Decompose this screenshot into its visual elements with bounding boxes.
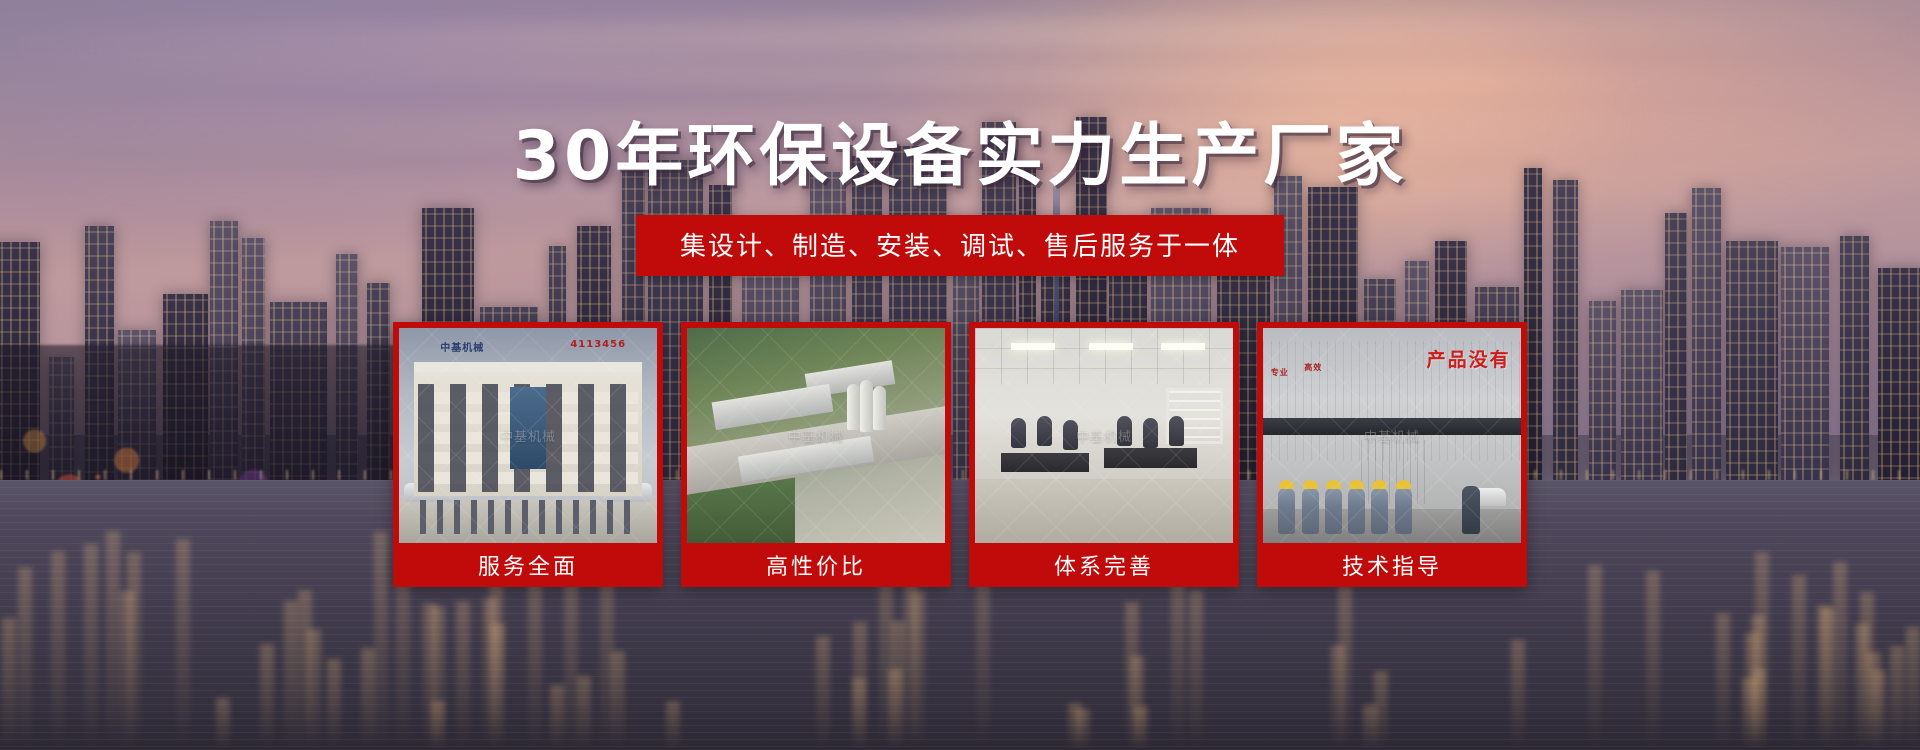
hard-hat-worker bbox=[1371, 488, 1388, 534]
office-worker bbox=[1169, 416, 1184, 446]
card-thumbnail: 中基机械 bbox=[687, 328, 945, 543]
office-desk bbox=[1001, 453, 1089, 472]
office-desk bbox=[1104, 448, 1197, 467]
office-worker bbox=[1143, 418, 1158, 448]
building-facade bbox=[414, 362, 641, 495]
banner-content: 30年环保设备实力生产厂家 集设计、制造、安装、调试、售后服务于一体 中基机械 … bbox=[0, 0, 1920, 750]
feature-card[interactable]: 中基机械 4113456 中基机械 服务全面 bbox=[393, 322, 663, 587]
hero-banner: 30年环保设备实力生产厂家 集设计、制造、安装、调试、售后服务于一体 中基机械 … bbox=[0, 0, 1920, 750]
building-phone-text: 4113456 bbox=[570, 339, 626, 350]
hard-hat-worker bbox=[1278, 488, 1295, 534]
card-caption: 体系完善 bbox=[975, 543, 1233, 587]
card-caption: 技术指导 bbox=[1263, 543, 1521, 587]
hard-hat-worker bbox=[1325, 488, 1342, 534]
factory-slogan: 高效 bbox=[1304, 362, 1322, 373]
feature-card[interactable]: 产品没有 专业 高效 中基机械 bbox=[1257, 322, 1527, 587]
office-floor bbox=[975, 479, 1233, 544]
building-atrium bbox=[510, 387, 546, 468]
storage-silo bbox=[847, 384, 860, 430]
subtitle-badge: 集设计、制造、安装、调试、售后服务于一体 bbox=[636, 215, 1284, 276]
hard-hat-worker bbox=[1395, 488, 1412, 534]
office-worker bbox=[1037, 416, 1052, 446]
office-interior-illustration bbox=[975, 328, 1233, 543]
card-caption: 服务全面 bbox=[399, 543, 657, 587]
office-worker bbox=[1011, 418, 1026, 448]
ceiling-lamp bbox=[1161, 343, 1205, 350]
card-thumbnail: 中基机械 4113456 中基机械 bbox=[399, 328, 657, 543]
aerial-plant-illustration bbox=[687, 328, 945, 543]
hard-hat-worker bbox=[1302, 488, 1319, 534]
ceiling-lamp bbox=[1089, 343, 1133, 350]
feature-card-list: 中基机械 4113456 中基机械 服务全面 bbox=[393, 322, 1527, 587]
plant-shed bbox=[711, 383, 833, 429]
feature-card[interactable]: 中基机械 体系完善 bbox=[969, 322, 1239, 587]
factory-window-strip bbox=[1263, 418, 1521, 435]
ceiling-lamp bbox=[1011, 343, 1055, 350]
storage-silo bbox=[873, 386, 886, 430]
storage-silo bbox=[860, 380, 873, 432]
feature-card[interactable]: 中基机械 高性价比 bbox=[681, 322, 951, 587]
office-worker bbox=[1063, 420, 1078, 450]
card-thumbnail: 中基机械 bbox=[975, 328, 1233, 543]
factory-workers-illustration: 产品没有 专业 高效 bbox=[1263, 328, 1521, 543]
hard-hat-worker bbox=[1348, 488, 1365, 534]
card-caption: 高性价比 bbox=[687, 543, 945, 587]
card-thumbnail: 产品没有 专业 高效 中基机械 bbox=[1263, 328, 1521, 543]
factory-slogan: 专业 bbox=[1271, 367, 1289, 378]
office-ceiling bbox=[975, 328, 1233, 384]
site-manager bbox=[1462, 486, 1480, 534]
office-worker bbox=[1117, 416, 1132, 446]
building-sign-text: 中基机械 bbox=[440, 339, 484, 354]
page-title: 30年环保设备实力生产厂家 bbox=[513, 100, 1408, 199]
factory-wall-banner: 产品没有 bbox=[1427, 345, 1511, 372]
staff-row bbox=[420, 500, 637, 534]
headquarters-building-illustration: 中基机械 4113456 bbox=[399, 328, 657, 543]
